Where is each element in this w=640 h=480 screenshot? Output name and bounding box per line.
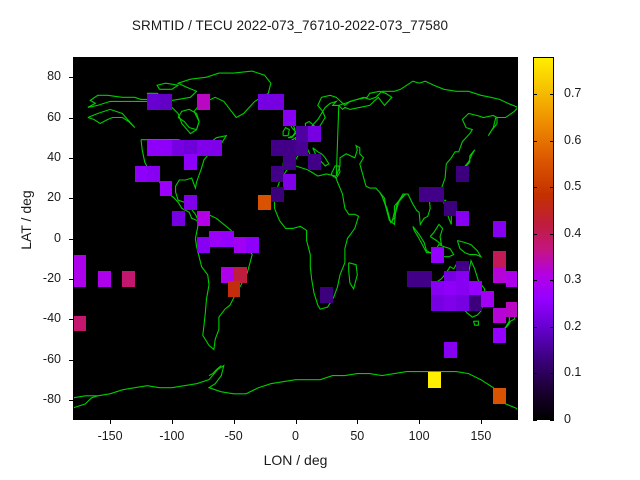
heatmap-cell <box>506 271 518 287</box>
x-tick-mark <box>296 420 297 424</box>
colorbar-tick-mark <box>533 373 537 374</box>
colorbar-tick-label: 0.6 <box>564 133 608 147</box>
heatmap-cell <box>271 140 284 156</box>
colorbar-tick-mark <box>550 187 554 188</box>
heatmap-cell <box>73 271 86 287</box>
colorbar-tick-mark <box>550 280 554 281</box>
x-tick-label: 50 <box>327 429 387 443</box>
colorbar-tick-label: 0.3 <box>564 272 608 286</box>
map-plot-area[interactable] <box>73 57 518 420</box>
heatmap-cell <box>493 221 506 237</box>
heatmap-cell <box>456 211 469 227</box>
y-tick-mark <box>69 198 73 199</box>
y-tick-label: -80 <box>21 392 61 406</box>
x-tick-mark <box>419 420 420 424</box>
colorbar-tick-label: 0.1 <box>564 365 608 379</box>
colorbar-tick-mark <box>533 234 537 235</box>
heatmap-cell <box>209 140 222 156</box>
y-tick-mark <box>69 158 73 159</box>
x-tick-mark <box>110 420 111 424</box>
heatmap-cell <box>135 166 148 182</box>
colorbar-tick-label: 0 <box>564 412 608 426</box>
colorbar-tick-label: 0.7 <box>564 86 608 100</box>
figure-canvas: SRMTID / TECU 2022-073_76710-2022-073_77… <box>0 0 640 480</box>
heatmap-cell <box>221 231 234 247</box>
y-tick-label: -60 <box>21 352 61 366</box>
heatmap-cell <box>147 140 160 156</box>
heatmap-cell <box>184 154 197 170</box>
heatmap-cell <box>431 247 444 263</box>
heatmap-cell <box>431 295 444 311</box>
heatmap-cell <box>419 187 432 203</box>
x-tick-mark <box>234 420 235 424</box>
heatmap-cell <box>271 187 284 203</box>
heatmap-cell <box>197 237 210 253</box>
heatmap-cell <box>493 251 506 267</box>
x-tick-label: 0 <box>266 429 326 443</box>
colorbar-tick-mark <box>533 94 537 95</box>
heatmap-cell <box>320 287 333 303</box>
heatmap-cell <box>481 291 494 307</box>
heatmap-cell <box>444 201 457 217</box>
colorbar-tick-mark <box>550 234 554 235</box>
page-title: SRMTID / TECU 2022-073_76710-2022-073_77… <box>0 18 580 33</box>
heatmap-cell <box>296 140 309 156</box>
heatmap-cell <box>98 271 111 287</box>
heatmap-cell <box>73 316 86 332</box>
colorbar-tick-label: 0.4 <box>564 226 608 240</box>
x-tick-label: 100 <box>389 429 449 443</box>
heatmap-cell <box>197 94 210 110</box>
heatmap-cell <box>493 388 506 404</box>
colorbar-tick-mark <box>550 94 554 95</box>
heatmap-cell <box>283 154 296 170</box>
heatmap-cell <box>428 372 441 388</box>
heatmap-cell <box>122 271 135 287</box>
heatmap-cell <box>246 237 259 253</box>
colorbar-tick-mark <box>533 280 537 281</box>
x-tick-label: -50 <box>204 429 264 443</box>
heatmap-cell <box>271 94 284 110</box>
colorbar-tick-mark <box>533 141 537 142</box>
y-tick-label: 60 <box>21 110 61 124</box>
heatmap-cell <box>493 328 506 344</box>
colorbar-tick-label: 0.2 <box>564 319 608 333</box>
heatmap-cell <box>172 211 185 227</box>
y-tick-mark <box>69 279 73 280</box>
colorbar-tick-label: 0.5 <box>564 179 608 193</box>
colorbar-tick-mark <box>550 327 554 328</box>
colorbar-tick-mark <box>533 327 537 328</box>
heatmap-cell <box>431 187 444 203</box>
x-axis-label: LON / deg <box>73 452 518 468</box>
y-tick-label: -40 <box>21 311 61 325</box>
heatmap-cell <box>258 195 271 211</box>
colorbar-tick-mark <box>550 420 554 421</box>
colorbar <box>533 57 554 420</box>
heatmap-cell <box>258 94 271 110</box>
y-tick-mark <box>69 360 73 361</box>
heatmap-cell <box>160 181 173 197</box>
colorbar-tick-mark <box>550 373 554 374</box>
heatmap-cell <box>184 195 197 211</box>
heatmap-cell <box>197 140 210 156</box>
heatmap-cell <box>296 126 309 142</box>
y-tick-mark <box>69 400 73 401</box>
heatmap-cell <box>283 110 296 126</box>
x-tick-mark <box>357 420 358 424</box>
y-tick-mark <box>69 118 73 119</box>
y-tick-mark <box>69 77 73 78</box>
heatmap-cell <box>444 342 457 358</box>
heatmap-cell <box>172 140 185 156</box>
heatmap-cell <box>493 308 506 324</box>
y-tick-mark <box>69 239 73 240</box>
heatmap-cell <box>308 126 321 142</box>
x-tick-mark <box>172 420 173 424</box>
heatmap-cell <box>271 166 284 182</box>
heatmap-cell <box>407 271 420 287</box>
heatmap-cell <box>147 166 160 182</box>
y-tick-label: 80 <box>21 69 61 83</box>
x-tick-label: -100 <box>142 429 202 443</box>
heatmap-cell <box>493 267 506 283</box>
heatmap-cell <box>147 94 160 110</box>
heatmap-cell <box>469 295 482 311</box>
heatmap-cell <box>308 154 321 170</box>
heatmap-cell <box>197 211 210 227</box>
heatmap-cell <box>228 281 241 297</box>
heatmap-cell <box>456 166 469 182</box>
y-tick-mark <box>69 319 73 320</box>
colorbar-gradient <box>534 58 553 419</box>
x-tick-mark <box>481 420 482 424</box>
y-axis-label: LAT / deg <box>18 150 34 290</box>
heatmap-cell <box>444 295 457 311</box>
heatmap-cell <box>283 174 296 190</box>
x-tick-label: 150 <box>451 429 511 443</box>
heatmap-cell <box>160 140 173 156</box>
heatmap-cell <box>160 94 173 110</box>
heatmap-cell <box>234 237 247 253</box>
heatmap-cell <box>506 302 518 318</box>
heatmap-cell-layer <box>73 57 518 420</box>
heatmap-cell <box>456 295 469 311</box>
colorbar-tick-mark <box>533 187 537 188</box>
heatmap-cell <box>419 271 432 287</box>
heatmap-cell <box>209 231 222 247</box>
heatmap-cell <box>73 255 86 271</box>
colorbar-tick-mark <box>550 141 554 142</box>
x-tick-label: -150 <box>80 429 140 443</box>
colorbar-tick-mark <box>533 420 537 421</box>
